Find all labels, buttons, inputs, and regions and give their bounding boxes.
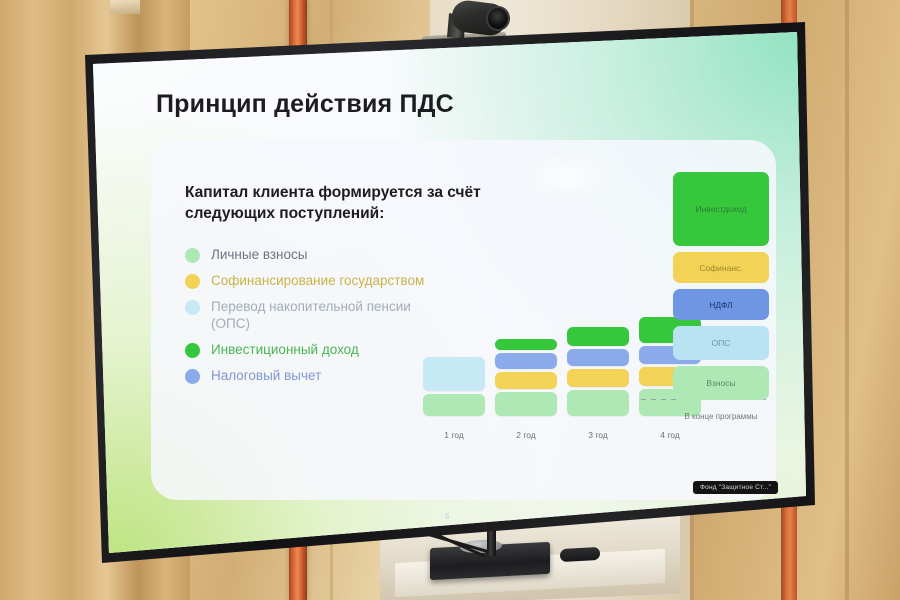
end-segment-label: Взносы [706,378,735,388]
bar-segment-ndfl [495,353,557,369]
legend-item: Личные взносы [185,246,435,263]
bar-column [495,336,557,416]
legend-item-label: Перевод накопительной пенсии (ОПС) [211,298,435,332]
bar-label-year-1: 1 год [423,430,485,440]
end-of-program-caption: В конце программы [671,412,771,421]
end-segment-label: Инвестдоход [695,204,746,214]
end-segment-ndfl: НДФЛ [673,289,769,320]
presentation-slide-area: Принцип действия ПДС Капитал клиента фор… [93,32,806,553]
legend-swatch-icon [185,274,200,289]
end-segment-investment: Инвестдоход [673,172,769,246]
television-display: Принцип действия ПДС Капитал клиента фор… [60,18,830,578]
watermark-badge: Фонд "Защитное Ст..." [693,481,778,494]
bar-segment-vznosy [567,390,629,416]
bar-label-year-4: 4 год [639,430,701,440]
legend: Личные взносы Софинансирование государст… [185,246,435,393]
bar-segment-sofinans [567,369,629,387]
end-segment-sofinans: Софинанс. [673,252,769,283]
legend-item-label: Налоговый вычет [211,367,321,384]
legend-swatch-icon [185,369,200,384]
page-title: Принцип действия ПДС [156,90,454,119]
legend-item: Налоговый вычет [185,367,435,384]
legend-item-label: Инвестиционный доход [211,341,359,358]
card-heading: Капитал клиента формируется за счёт след… [185,182,515,225]
bar-segment-vznosy [423,394,485,416]
end-segment-vznosy: Взносы [673,366,769,400]
bar-column [423,345,485,416]
bar-label-year-2: 2 год [495,430,557,440]
wall-seam [845,0,849,600]
legend-item-label: Личные взносы [211,246,307,263]
legend-swatch-icon [185,300,200,315]
presentation-slide: Принцип действия ПДС Капитал клиента фор… [93,32,806,553]
bar-segment-investment [495,339,557,350]
bar-segment-vznosy [495,392,557,416]
bar-segment-sofinans [495,372,557,389]
end-segment-label: Софинанс. [699,263,742,273]
legend-swatch-icon [185,248,200,263]
legend-item: Софинансирование государством [185,272,435,289]
end-segment-label: НДФЛ [709,300,732,310]
bar-label-year-3: 3 год [567,430,629,440]
end-segment-ops: ОПС [673,326,769,360]
end-segment-label: ОПС [712,338,731,348]
chart-bars [423,314,701,416]
page-number: 5 [445,512,449,521]
bar-column [567,324,629,416]
legend-item: Перевод накопительной пенсии (ОПС) [185,298,435,332]
ceiling-light [110,0,140,14]
end-of-program-column: Инвестдоход Софинанс. НДФЛ ОПС Взносы [673,172,769,406]
legend-item-label: Софинансирование государством [211,272,424,289]
bar-segment-ops [423,357,485,391]
legend-swatch-icon [185,343,200,358]
legend-item: Инвестиционный доход [185,341,435,358]
bar-segment-ndfl [567,349,629,366]
bar-segment-investment [567,327,629,346]
